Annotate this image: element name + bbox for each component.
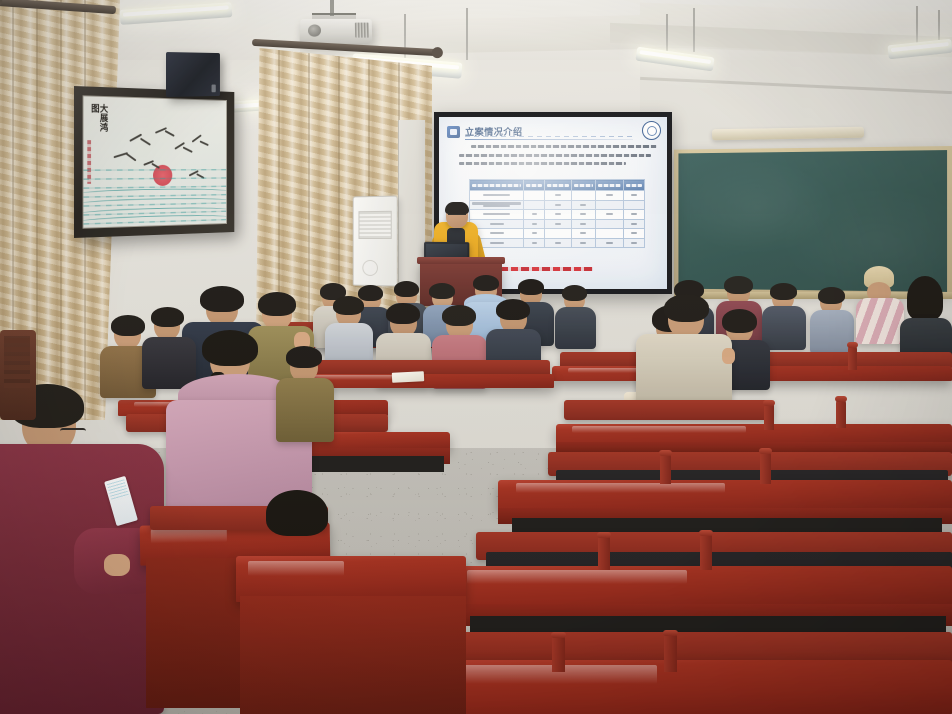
- air-conditioner: [353, 196, 398, 287]
- slide-body-text: [459, 145, 653, 171]
- light-rod: [693, 8, 695, 52]
- slide-table: [469, 179, 645, 248]
- table-row: [470, 229, 645, 239]
- slide-bullet-icon: [447, 126, 460, 138]
- table-row: [470, 210, 645, 220]
- presenter-hair: [445, 202, 469, 214]
- table-row: [470, 219, 645, 229]
- desk-post: [598, 536, 610, 570]
- desk-storage-shelf: [308, 456, 444, 472]
- ac-grille: [358, 211, 391, 239]
- chalkboard-surface: [678, 150, 947, 292]
- university-seal-icon: [642, 121, 661, 140]
- podium-top: [417, 257, 505, 264]
- chalkboard: [674, 146, 952, 296]
- light-rod: [466, 8, 468, 60]
- desk-post: [664, 634, 677, 672]
- classroom-photo: 大展鸿图: [0, 0, 952, 714]
- ceiling-projector: [300, 19, 373, 43]
- ac-logo-icon: [362, 260, 378, 276]
- lecture-desk: [416, 660, 952, 714]
- lecture-desk: [452, 566, 952, 608]
- side-chair-back: [4, 336, 30, 388]
- table-row: [470, 200, 645, 210]
- light-rod: [916, 6, 918, 44]
- desk-post: [760, 452, 771, 484]
- light-rod: [666, 14, 668, 56]
- lecture-desk: [556, 424, 952, 444]
- slide-header: 立案情况介绍: [447, 125, 659, 141]
- desk-post: [660, 454, 671, 484]
- slide-title-underline: [465, 139, 633, 140]
- bench-back: [564, 400, 774, 420]
- table-row: [470, 238, 645, 248]
- desk-post: [552, 636, 565, 672]
- projector-vent: [355, 23, 369, 38]
- desk-post: [848, 346, 857, 370]
- presenter-head: [446, 204, 468, 228]
- glasses-icon: [60, 428, 86, 438]
- desk-post: [764, 404, 774, 430]
- open-notebook: [392, 371, 424, 383]
- painting-calligraphy: 大展鸿图: [89, 103, 106, 137]
- table-header-row: [470, 180, 645, 191]
- wall-mounted-monitor: [166, 52, 220, 97]
- calligraphy-painting: 大展鸿图: [74, 86, 234, 238]
- slide-title-underline-dashed: [465, 136, 633, 137]
- desk-front-panel: [240, 596, 466, 714]
- lecture-desk: [498, 480, 952, 510]
- table-row: [470, 191, 645, 201]
- desk-post: [700, 534, 712, 570]
- desk-post: [836, 400, 846, 428]
- presenter-glasses: [448, 214, 466, 219]
- projector-lens-icon: [308, 24, 321, 36]
